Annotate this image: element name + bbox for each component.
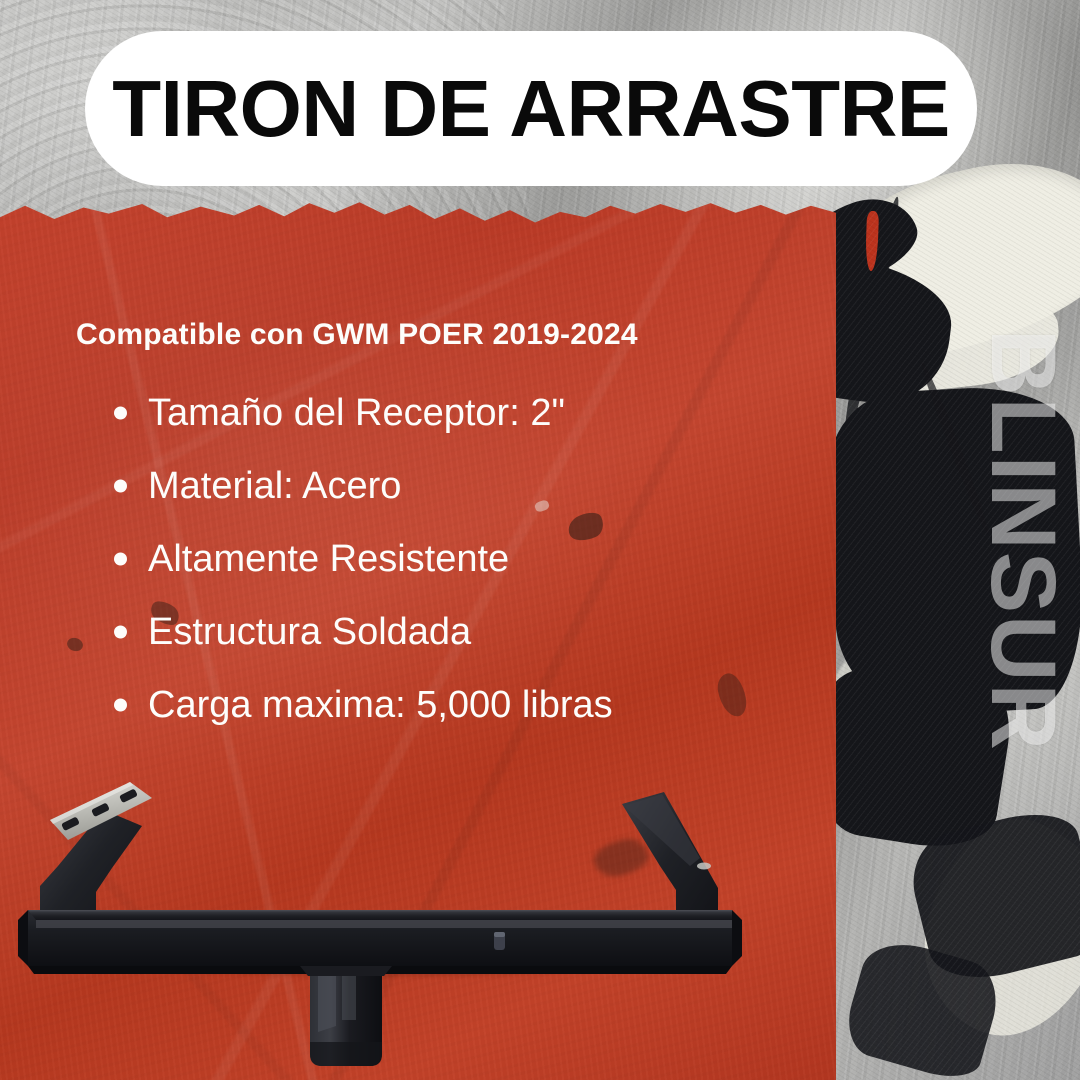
feature-item: Carga maxima: 5,000 libras [76, 686, 806, 724]
crossbar-right-cap [732, 910, 742, 966]
receiver-tube-highlight [318, 968, 336, 1032]
feature-item: Estructura Soldada [76, 613, 806, 651]
title-banner: TIRON DE ARRASTRE [85, 31, 977, 186]
feature-label: Tamaño del Receptor: 2" [148, 392, 565, 434]
feature-label: Estructura Soldada [148, 611, 471, 653]
trailer-hitch-illustration [0, 770, 760, 1080]
feature-item: Tamaño del Receptor: 2" [76, 394, 806, 432]
product-image-trailer-hitch [0, 770, 760, 1080]
crossbar-top-face [28, 910, 740, 920]
receiver-tube-slot [342, 970, 356, 1020]
feature-item: Material: Acero [76, 467, 806, 505]
feature-label: Material: Acero [148, 465, 401, 507]
crossbar-specular [36, 920, 740, 928]
feature-item: Altamente Resistente [76, 540, 806, 578]
feature-label: Carga maxima: 5,000 libras [148, 684, 613, 726]
feature-label: Altamente Resistente [148, 538, 509, 580]
feature-list: Tamaño del Receptor: 2" Material: Acero … [76, 394, 806, 724]
receiver-tube-mouth [310, 1042, 382, 1066]
page-title: TIRON DE ARRASTRE [112, 69, 949, 149]
product-copy-block: Compatible con GWM POER 2019-2024 Tamaño… [76, 318, 806, 759]
bullet-dot-icon [114, 553, 127, 566]
bolt-hole [697, 863, 711, 870]
crossbar-bolt-head [494, 932, 505, 937]
crossbar-left-cap [18, 910, 28, 966]
bullet-dot-icon [114, 699, 127, 712]
compatibility-subtitle: Compatible con GWM POER 2019-2024 [76, 318, 806, 352]
bullet-dot-icon [114, 626, 127, 639]
bullet-dot-icon [114, 407, 127, 420]
receiver-gusset [300, 966, 392, 976]
bullet-dot-icon [114, 480, 127, 493]
